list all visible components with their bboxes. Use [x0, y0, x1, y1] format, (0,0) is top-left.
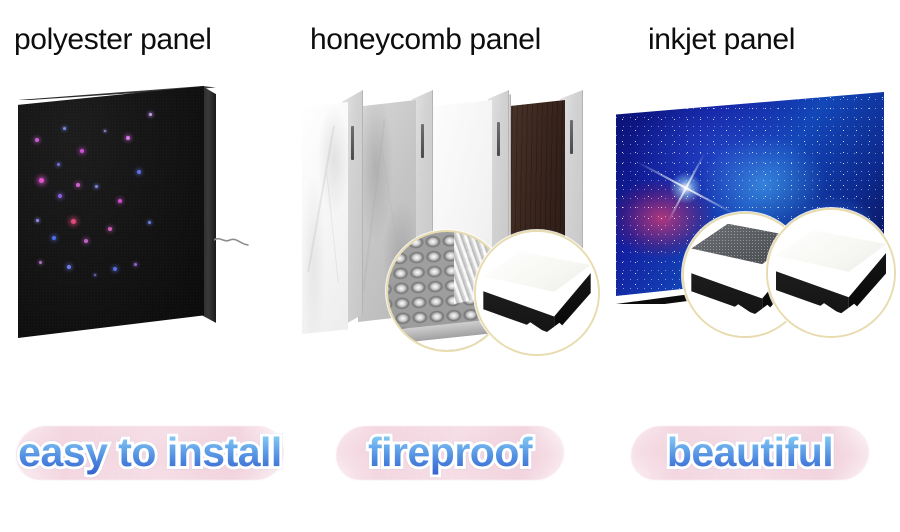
caption-text: easy to install — [0, 424, 300, 480]
star-light — [80, 149, 84, 153]
star-light — [35, 138, 39, 142]
star-light — [52, 236, 56, 240]
column-title-honeycomb: honeycomb panel — [310, 20, 541, 60]
marble-vein — [308, 126, 336, 273]
board-mount-slot — [570, 120, 573, 154]
star-light — [84, 239, 88, 243]
star-light — [134, 263, 137, 266]
star-light — [108, 227, 112, 231]
star-light — [67, 265, 71, 269]
board-mount-slot — [351, 126, 354, 160]
board-mount-slot — [421, 124, 424, 158]
star-light — [137, 170, 141, 174]
caption-text: beautiful — [600, 424, 900, 480]
product-comparison-board: polyester panel — [0, 0, 900, 532]
star-light — [95, 185, 98, 188]
star-light — [126, 136, 130, 140]
caption-fireproof: fireproof fireproof fireproof — [300, 400, 600, 510]
board-surface — [302, 102, 348, 334]
star-light — [104, 130, 106, 132]
star-light — [76, 183, 80, 187]
star-light — [39, 178, 44, 183]
star-light — [94, 274, 96, 276]
power-cable-icon — [214, 234, 250, 248]
polyester-star-panel — [18, 86, 248, 346]
star-light — [39, 261, 42, 264]
callout-white-corner — [766, 208, 896, 338]
star-light — [63, 127, 66, 130]
marble-vein — [363, 118, 386, 290]
panel-front-face — [18, 86, 204, 338]
star-light — [118, 199, 122, 203]
corner-cross-section-image — [476, 232, 598, 354]
caption-beautiful: beautiful beautiful beautiful — [600, 400, 900, 510]
star-light — [149, 113, 152, 116]
panel-side-edge — [202, 86, 216, 338]
product-image-honeycomb — [300, 82, 600, 372]
star-light — [57, 163, 60, 166]
product-image-inkjet — [600, 82, 900, 372]
star-light — [71, 219, 76, 224]
product-column-inkjet: inkjet panel — [600, 0, 900, 532]
board-mount-slot — [497, 122, 500, 156]
star-light — [58, 194, 62, 198]
callout-corner-cross-section — [474, 230, 600, 356]
marble-vein — [327, 172, 340, 283]
product-column-polyester: polyester panel — [0, 0, 300, 532]
honeycomb-panel-stack — [302, 90, 598, 352]
inkjet-galaxy-panel — [606, 84, 896, 344]
product-image-polyester — [0, 82, 300, 372]
column-title-inkjet: inkjet panel — [648, 20, 795, 60]
white-corner-image — [768, 210, 894, 336]
product-column-honeycomb: honeycomb panel — [300, 0, 600, 532]
caption-easy-to-install: easy to install easy to install easy to … — [0, 400, 300, 510]
column-title-polyester: polyester panel — [14, 20, 211, 60]
star-light — [113, 267, 117, 271]
star-light — [36, 219, 39, 222]
star-light — [148, 221, 151, 224]
caption-text: fireproof — [300, 424, 600, 480]
